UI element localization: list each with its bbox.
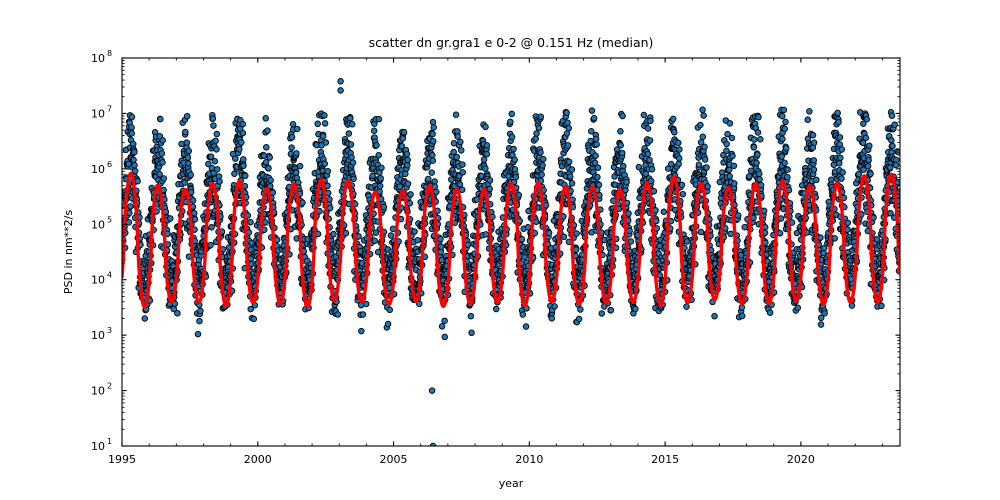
- figure-canvas: scatter dn gr.gra1 e 0-2 @ 0.151 Hz (med…: [0, 0, 1000, 500]
- x-tick-label: 2015: [651, 453, 679, 466]
- x-tick-label: 2005: [380, 453, 408, 466]
- x-tick-label: 2020: [787, 453, 815, 466]
- low-outlier-2006-100: [429, 388, 435, 394]
- high-outlier-2003-b: [338, 88, 344, 94]
- y-tick-label-base: 10: [91, 274, 105, 287]
- y-tick-label-exponent: 8: [107, 49, 112, 58]
- y-tick-label-exponent: 3: [107, 326, 112, 335]
- y-tick-label-exponent: 7: [107, 104, 112, 113]
- y-tick-label-exponent: 1: [107, 437, 112, 446]
- chart-title: scatter dn gr.gra1 e 0-2 @ 0.151 Hz (med…: [369, 35, 654, 50]
- y-tick-label-base: 10: [91, 107, 105, 120]
- x-axis-label: year: [499, 477, 524, 490]
- y-tick-label-base: 10: [91, 52, 105, 65]
- scatter-series-points: [119, 107, 903, 340]
- x-tick-label: 1995: [108, 453, 136, 466]
- y-tick-label-base: 10: [91, 385, 105, 398]
- y-tick-label-exponent: 5: [107, 215, 112, 224]
- high-outlier-2003-a: [338, 78, 344, 84]
- x-tick-label: 2000: [244, 453, 272, 466]
- y-tick-label-base: 10: [91, 218, 105, 231]
- plot-data-area: [119, 78, 903, 448]
- y-tick-label-base: 10: [91, 440, 105, 453]
- y-tick-label-exponent: 4: [107, 271, 112, 280]
- y-axis-label: PSD in nm**2/s: [62, 210, 75, 294]
- y-tick-label-base: 10: [91, 163, 105, 176]
- psd-scatter-plot: scatter dn gr.gra1 e 0-2 @ 0.151 Hz (med…: [0, 0, 1000, 500]
- y-tick-label-exponent: 6: [107, 160, 112, 169]
- x-tick-label: 2010: [515, 453, 543, 466]
- y-tick-label-base: 10: [91, 329, 105, 342]
- y-tick-label-exponent: 2: [107, 382, 112, 391]
